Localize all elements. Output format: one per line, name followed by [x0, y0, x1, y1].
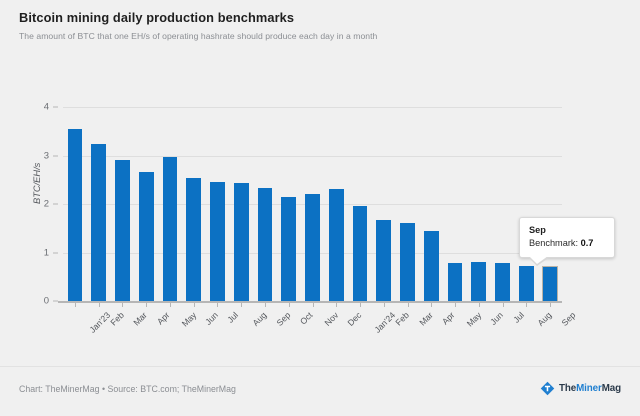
x-axis-tick-mark — [265, 303, 266, 307]
x-axis-tick-mark — [431, 303, 432, 307]
x-axis-tick-mark — [336, 303, 337, 307]
chart-header: Bitcoin mining daily production benchmar… — [19, 10, 619, 43]
x-axis-tick-mark — [170, 303, 171, 307]
bar[interactable] — [424, 231, 439, 301]
y-axis-tick-label: 0 — [9, 296, 49, 307]
brand-logo: TheMinerMag — [540, 381, 621, 396]
chart-screenshot: Bitcoin mining daily production benchmar… — [0, 0, 640, 416]
x-axis-tick-label: Jan'23 — [87, 310, 112, 335]
footer-credit: Chart: TheMinerMag • Source: BTC.com; Th… — [19, 384, 236, 394]
x-axis-tick-mark — [479, 303, 480, 307]
brand-text: TheMinerMag — [559, 383, 621, 394]
bar[interactable] — [353, 206, 368, 301]
bar[interactable] — [210, 182, 225, 301]
tooltip-value-row: Benchmark: 0.7 — [529, 237, 605, 250]
x-axis-tick-label: May — [180, 310, 199, 329]
bar[interactable] — [258, 188, 273, 301]
x-axis-tick-label: Jul — [226, 310, 241, 325]
bar[interactable] — [115, 160, 130, 301]
x-axis-tick-mark — [146, 303, 147, 307]
y-axis-tick-label: 3 — [9, 150, 49, 161]
y-axis-tick-mark — [53, 107, 58, 108]
tooltip-metric-label: Benchmark: — [529, 238, 578, 248]
y-axis-tick-label: 4 — [9, 102, 49, 113]
bar[interactable] — [519, 266, 534, 301]
x-axis-tick-mark — [122, 303, 123, 307]
x-axis-tick-label: Mar — [132, 310, 150, 328]
x-axis-tick-mark — [194, 303, 195, 307]
plot-area — [63, 107, 562, 301]
y-axis-tick-label: 2 — [9, 199, 49, 210]
x-axis-tick-label: Jan'24 — [372, 310, 397, 335]
bar[interactable] — [448, 263, 463, 301]
chart-tooltip: Sep Benchmark: 0.7 — [519, 217, 615, 258]
y-axis-tick-mark — [53, 301, 58, 302]
x-axis-tick-label: Jul — [511, 310, 526, 325]
x-axis-tick-mark — [217, 303, 218, 307]
y-axis-tick-mark — [53, 204, 58, 205]
page-title: Bitcoin mining daily production benchmar… — [19, 10, 619, 26]
tooltip-metric-value: 0.7 — [581, 238, 594, 248]
bar[interactable] — [139, 172, 154, 301]
x-axis-tick-mark — [503, 303, 504, 307]
y-axis: 01234 — [0, 107, 63, 301]
x-axis-tick-mark — [75, 303, 76, 307]
x-axis-tick-mark — [360, 303, 361, 307]
x-axis-tick-label: Dec — [346, 310, 364, 328]
tooltip-pointer — [529, 256, 548, 264]
bar[interactable] — [163, 157, 178, 301]
bar[interactable] — [400, 223, 415, 301]
x-axis-tick-label: Jun — [203, 310, 220, 327]
x-axis-tick-label: Sep — [560, 310, 578, 328]
bar[interactable] — [543, 267, 558, 301]
x-axis-labels: Jan'23FebMarAprMayJunJulAugSepOctNovDecJ… — [63, 303, 562, 353]
y-axis-tick-mark — [53, 155, 58, 156]
bar[interactable] — [68, 129, 83, 301]
theminermag-diamond-icon — [540, 381, 555, 396]
x-axis-tick-mark — [313, 303, 314, 307]
chart-subtitle: The amount of BTC that one EH/s of opera… — [19, 30, 619, 43]
x-axis-tick-label: Oct — [298, 310, 315, 327]
brand-miner: Miner — [576, 383, 602, 394]
brand-the: The — [559, 383, 576, 394]
bar[interactable] — [91, 144, 106, 301]
x-axis-tick-mark — [99, 303, 100, 307]
x-axis-tick-mark — [384, 303, 385, 307]
x-axis-tick-label: Aug — [251, 310, 269, 328]
x-axis-tick-mark — [526, 303, 527, 307]
x-axis-tick-label: Jun — [488, 310, 505, 327]
brand-mag: Mag — [602, 383, 621, 394]
y-axis-tick-label: 1 — [9, 247, 49, 258]
bar[interactable] — [186, 178, 201, 301]
x-axis-tick-label: Mar — [417, 310, 435, 328]
bar[interactable] — [329, 189, 344, 301]
bar[interactable] — [305, 194, 320, 301]
bar[interactable] — [495, 263, 510, 301]
footer-divider — [0, 366, 640, 367]
x-axis-tick-mark — [289, 303, 290, 307]
y-axis-title: BTC/EH/s — [32, 163, 42, 204]
x-axis-tick-label: Feb — [108, 310, 126, 328]
bar[interactable] — [281, 197, 296, 301]
x-axis-tick-mark — [550, 303, 551, 307]
x-axis-tick-label: Feb — [393, 310, 411, 328]
x-axis-tick-mark — [408, 303, 409, 307]
bar[interactable] — [471, 262, 486, 301]
x-axis-tick-label: Apr — [440, 310, 457, 327]
x-axis-tick-label: May — [465, 310, 484, 329]
x-axis-tick-label: Aug — [536, 310, 554, 328]
x-axis-tick-label: Apr — [155, 310, 172, 327]
x-axis-tick-label: Nov — [322, 310, 340, 328]
tooltip-title: Sep — [529, 224, 605, 236]
bar-series — [63, 107, 562, 301]
bar[interactable] — [376, 220, 391, 301]
x-axis-tick-mark — [241, 303, 242, 307]
bar[interactable] — [234, 183, 249, 301]
y-axis-tick-mark — [53, 252, 58, 253]
x-axis-tick-label: Sep — [274, 310, 292, 328]
x-axis-tick-mark — [455, 303, 456, 307]
